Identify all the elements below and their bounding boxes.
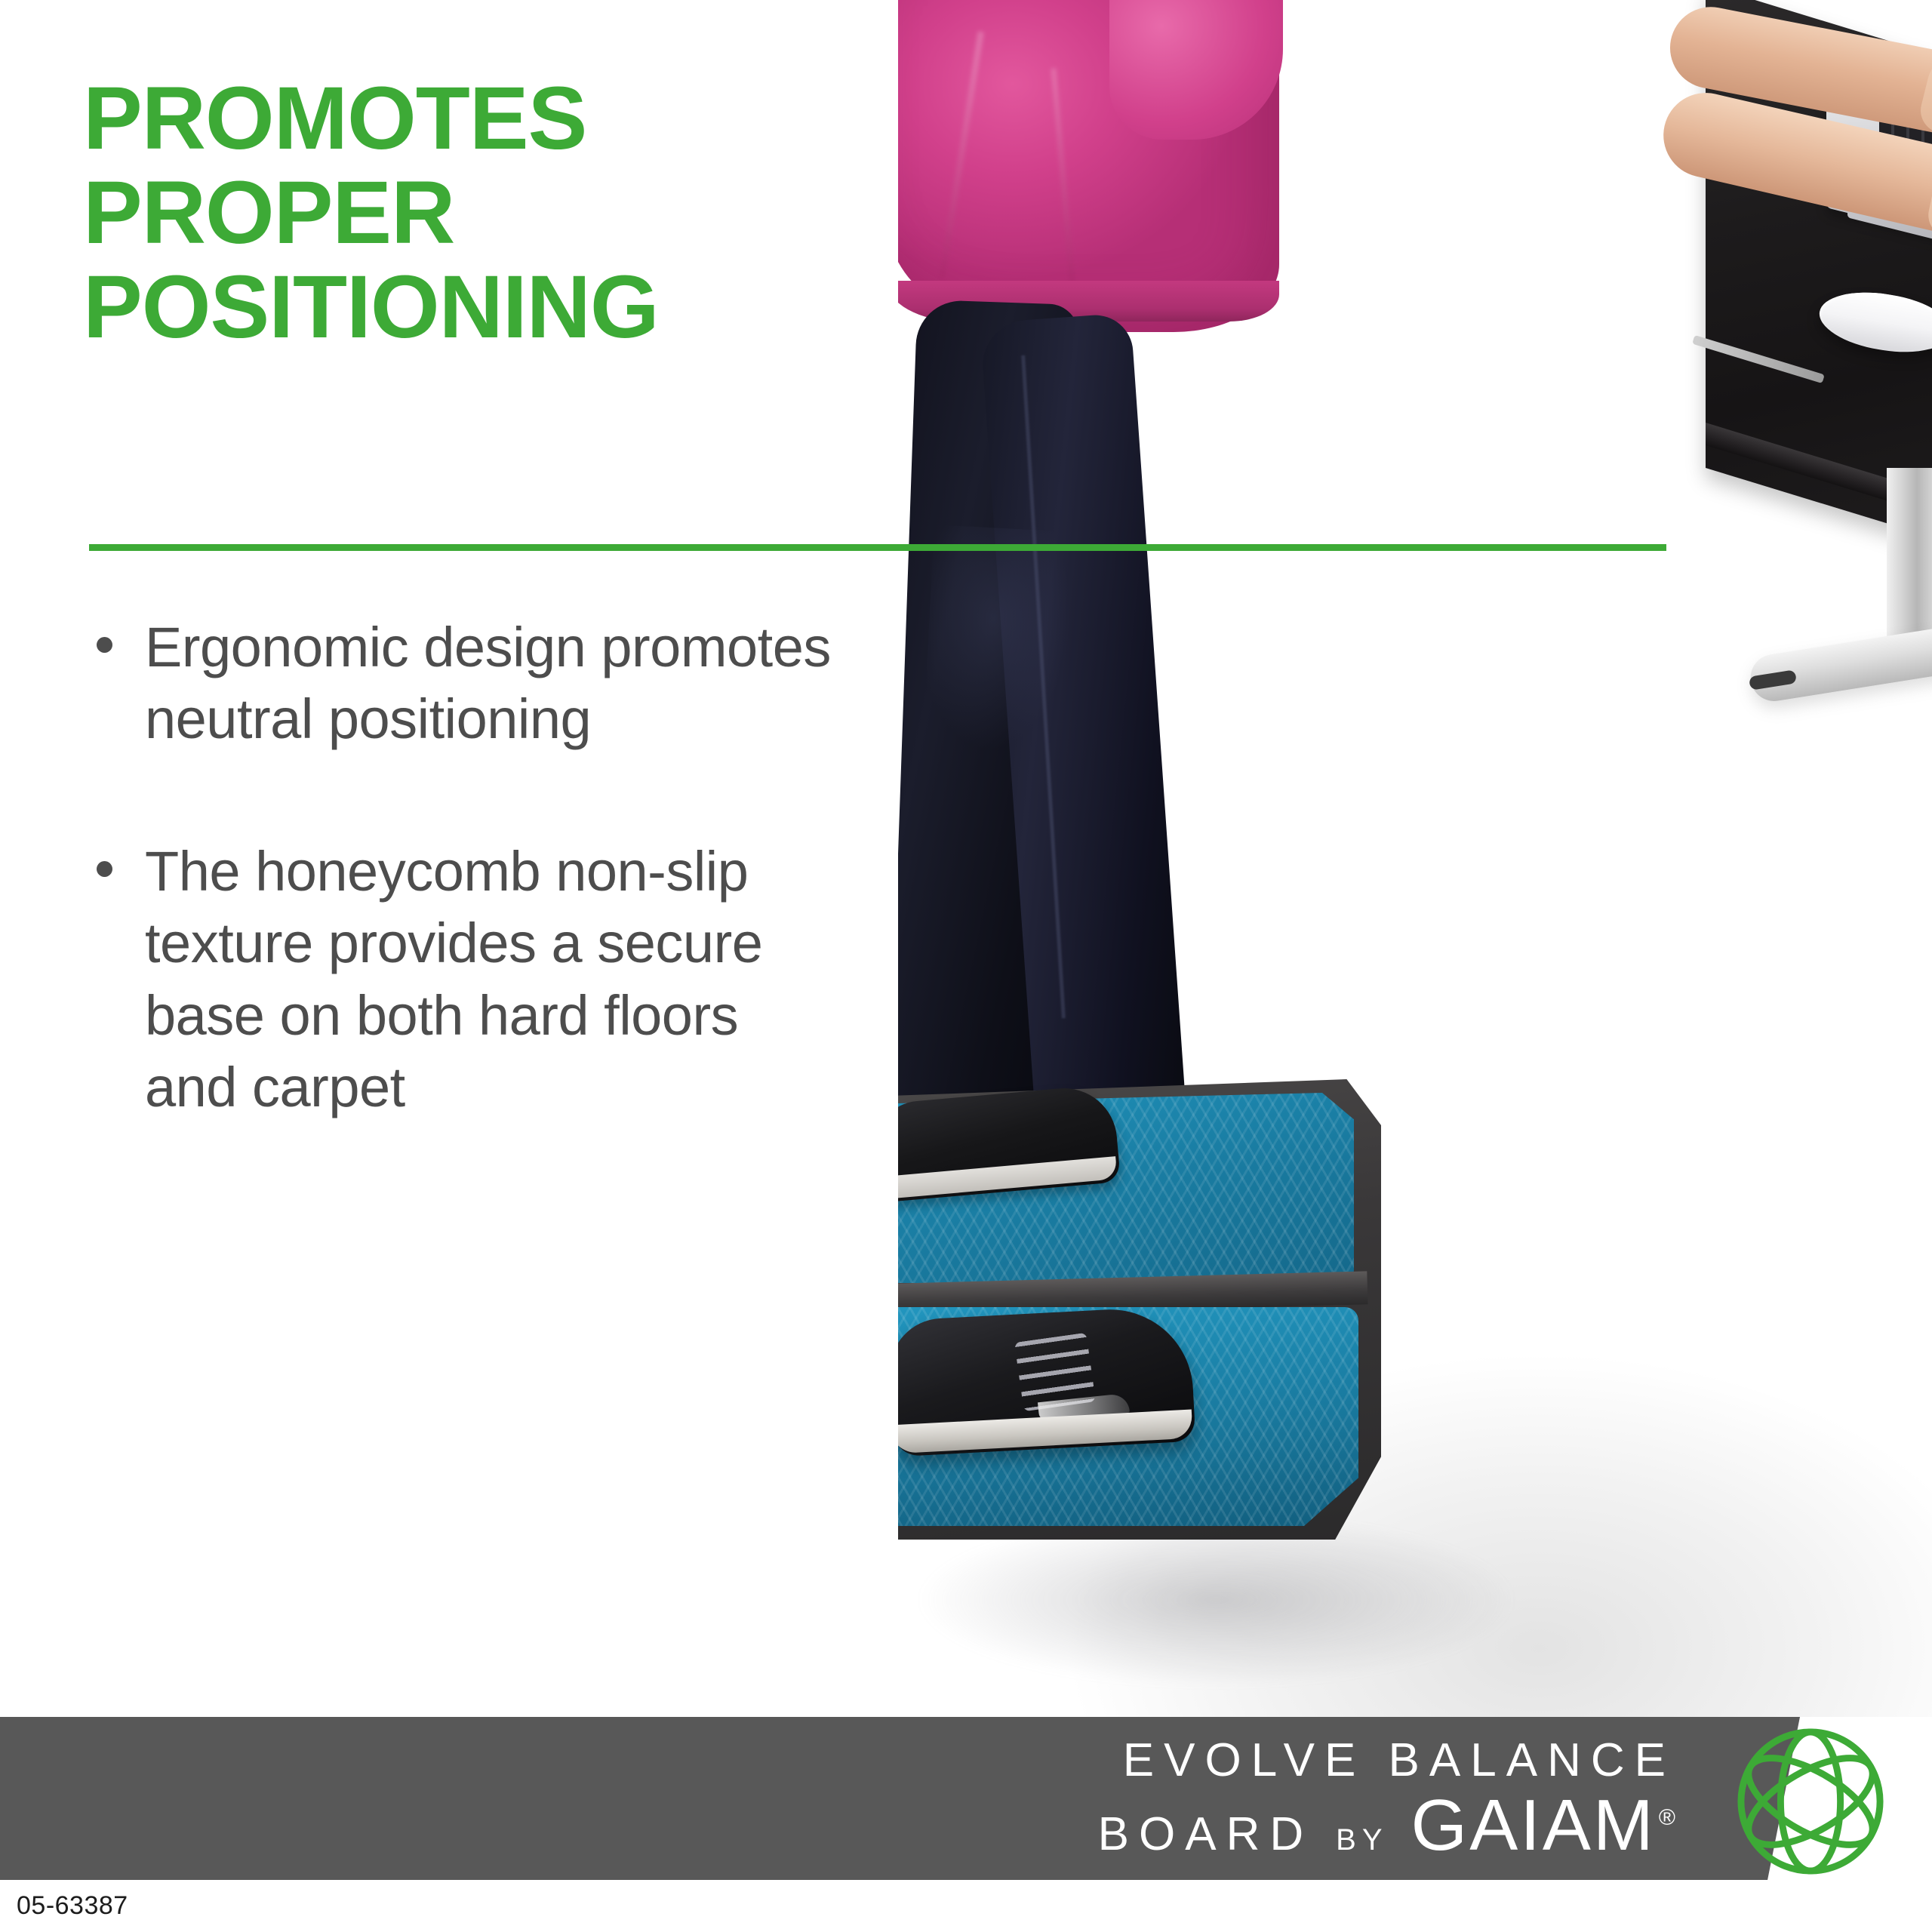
bullet-dot-icon: [97, 861, 112, 877]
headline-line-1: PROMOTES: [83, 72, 883, 166]
bullet-dot-icon: [97, 637, 112, 653]
knee-highlight: [922, 525, 1077, 758]
product-name-line-2-row: BOARD BY GAIAM®: [0, 1786, 1675, 1865]
product-name-line-1: EVOLVE BALANCE: [0, 1736, 1675, 1786]
sku-code: 05-63387: [17, 1891, 128, 1921]
brand-name: GAIAM: [1411, 1785, 1656, 1866]
registered-trademark-icon: ®: [1659, 1805, 1675, 1830]
marketing-page: PROMOTES PROPER POSITIONING Ergonomic de…: [0, 0, 1932, 1932]
product-lifestyle-photo: [898, 0, 1932, 1717]
footer-brand-lockup: EVOLVE BALANCE BOARD BY GAIAM®: [0, 1736, 1675, 1865]
brand-wordmark: GAIAM®: [1411, 1786, 1675, 1865]
feature-bullet-list: Ergonomic design promotes neutral positi…: [83, 611, 838, 1124]
headline-line-3: POSITIONING: [83, 260, 883, 355]
by-word: BY: [1336, 1824, 1388, 1857]
headline-divider-rule: [89, 544, 1666, 551]
page-title: PROMOTES PROPER POSITIONING: [83, 72, 883, 355]
product-name-line-2: BOARD: [1098, 1810, 1313, 1860]
list-item: The honeycomb non-slip texture provides …: [83, 835, 838, 1124]
bullet-text: The honeycomb non-slip texture provides …: [145, 840, 762, 1118]
headline-line-2: PROPER: [83, 166, 883, 260]
desk-leg-column: [1887, 468, 1932, 657]
list-item: Ergonomic design promotes neutral positi…: [83, 611, 838, 755]
bullet-text: Ergonomic design promotes neutral positi…: [145, 616, 831, 750]
gaiam-flower-of-life-icon: [1736, 1727, 1885, 1876]
